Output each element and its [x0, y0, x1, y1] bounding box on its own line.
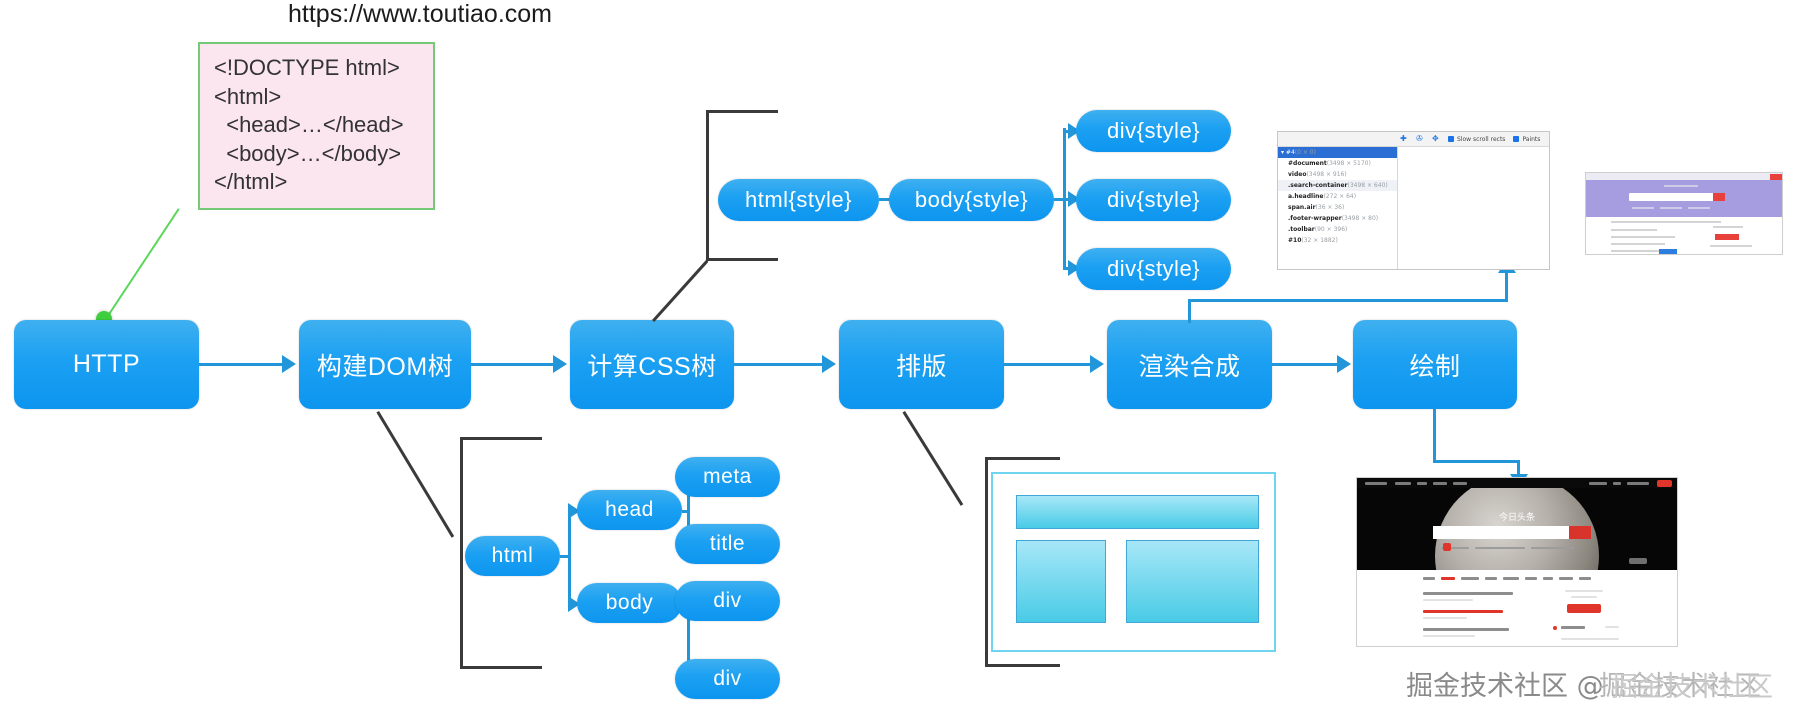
rendered-body	[1357, 570, 1677, 646]
html-source-callout: <!DOCTYPE html> <html> <head>…</head> <b…	[198, 42, 435, 210]
nav-item	[1613, 482, 1621, 485]
layer-row[interactable]: .search-container(3498 × 640)	[1278, 180, 1397, 191]
arrow-layout-to-render-line	[1004, 363, 1092, 366]
arrow-render-to-paint-head	[1337, 355, 1351, 373]
arrow-http-to-dom-head	[282, 355, 296, 373]
article-meta	[1423, 599, 1473, 601]
dom-node-html-label: html	[492, 544, 534, 568]
preview-tag-line	[1632, 207, 1654, 209]
elbow-render-across-seg	[1188, 299, 1508, 302]
dom-node-div-2[interactable]: div	[675, 659, 780, 699]
article-title	[1423, 628, 1509, 631]
dom-node-head-label: head	[605, 498, 654, 522]
rail-text	[1565, 590, 1603, 592]
layer-row[interactable]: .toolbar(90 × 396)	[1278, 224, 1397, 235]
preview-blue-button	[1659, 249, 1677, 255]
wireframe-connector-diagonal	[902, 411, 963, 506]
rail-text	[1571, 596, 1597, 598]
nav-item	[1365, 482, 1387, 485]
dom-node-meta-label: meta	[703, 465, 752, 489]
preview-side-line	[1710, 245, 1752, 247]
layer-dims: (3498 × 5170)	[1327, 160, 1371, 167]
rail-download-button	[1567, 604, 1601, 613]
devtools-layer-canvas	[1399, 147, 1549, 269]
arrow-render-to-paint-line	[1272, 363, 1338, 366]
category-item	[1461, 577, 1479, 580]
layer-row[interactable]: #document(3498 × 5170)	[1278, 158, 1397, 169]
hero-search-input	[1433, 526, 1569, 539]
layer-name: video	[1288, 171, 1306, 178]
category-item	[1579, 577, 1591, 580]
devtools-layers-screenshot: ✚ ✇ ✥ Slow scroll rects Paints ▾ #4(0 × …	[1277, 131, 1550, 270]
category-item	[1503, 577, 1519, 580]
css-node-div-3[interactable]: div{style}	[1076, 248, 1231, 290]
article-title-highlight	[1423, 610, 1503, 613]
dom-tree-bracket-vertical	[460, 437, 463, 669]
diagram-canvas: https://www.toutiao.com <!DOCTYPE html> …	[0, 0, 1793, 713]
stage-build-dom-label: 构建DOM树	[317, 347, 453, 383]
stage-http[interactable]: HTTP	[14, 320, 199, 409]
wireframe-bracket-bottom	[985, 664, 1060, 667]
stage-render-composite-label: 渲染合成	[1138, 347, 1240, 383]
dom-node-title-label: title	[710, 532, 745, 556]
dom-tree-bracket-bottom	[460, 666, 542, 669]
layout-wireframe	[991, 472, 1276, 652]
stage-layout[interactable]: 排版	[839, 320, 1004, 409]
hero-badge	[1443, 543, 1451, 551]
nav-item	[1433, 482, 1447, 485]
rendered-page-screenshot: 今日头条	[1356, 477, 1678, 647]
preview-text-line	[1611, 229, 1657, 231]
wireframe-header-block	[1016, 495, 1259, 529]
article-title	[1423, 646, 1501, 647]
rail-item	[1561, 638, 1619, 640]
nav-item	[1589, 482, 1607, 485]
checkbox-icon	[1513, 136, 1519, 142]
hero-site-title: 今日头条	[1357, 510, 1677, 523]
preview-hero	[1586, 180, 1782, 217]
layer-dims: (272 × 64)	[1323, 193, 1356, 200]
wireframe-bracket-top	[985, 457, 1060, 460]
paints-label: Paints	[1522, 136, 1540, 143]
dom-node-div-1-label: div	[713, 589, 741, 613]
css-node-div-3-label: div{style}	[1107, 256, 1200, 282]
layer-dims: (3498 × 916)	[1306, 171, 1346, 178]
preview-text-line	[1611, 243, 1665, 245]
css-node-div-2-label: div{style}	[1107, 187, 1200, 213]
stage-http-label: HTTP	[73, 350, 140, 379]
preview-text-line	[1611, 236, 1675, 238]
css-tree-bracket-bottom	[706, 258, 778, 261]
arrow-css-to-layout-head	[822, 355, 836, 373]
css-node-body[interactable]: body{style}	[889, 179, 1054, 221]
stage-paint-label: 绘制	[1409, 347, 1460, 383]
layer-dims: (90 × 396)	[1315, 226, 1348, 233]
layer-row[interactable]: a.headline(272 × 64)	[1278, 191, 1397, 202]
layer-name: .footer-wrapper	[1288, 215, 1342, 222]
arrow-dom-to-css-line	[471, 363, 555, 366]
css-node-div-1-label: div{style}	[1107, 118, 1200, 144]
nav-login-button	[1657, 480, 1672, 487]
css-tree-connector-diagonal	[652, 260, 708, 322]
add-icon[interactable]: ✚	[1400, 135, 1408, 143]
category-item	[1423, 577, 1435, 580]
layer-dims: (3498 × 80)	[1342, 215, 1378, 222]
preview-tag-line	[1688, 207, 1710, 209]
preview-search-button	[1713, 193, 1725, 201]
stage-paint[interactable]: 绘制	[1353, 320, 1517, 409]
elbow-render-up-seg	[1188, 299, 1191, 323]
css-node-html[interactable]: html{style}	[718, 179, 879, 221]
arrow-css-to-layout-line	[734, 363, 824, 366]
stage-compute-css[interactable]: 计算CSS树	[570, 320, 734, 409]
dom-node-body[interactable]: body	[577, 583, 682, 623]
wireframe-bracket-vertical	[985, 457, 988, 667]
category-item	[1543, 577, 1553, 580]
dom-node-title[interactable]: title	[675, 524, 780, 564]
layer-row[interactable]: ▾ #4(0 × 0)	[1278, 147, 1397, 158]
stage-build-dom[interactable]: 构建DOM树	[299, 320, 471, 409]
css-tree-bracket-vertical	[706, 110, 709, 260]
page-url-label: https://www.toutiao.com	[288, 0, 552, 29]
nav-item	[1417, 482, 1427, 485]
dom-node-body-label: body	[606, 591, 654, 615]
hero-search-button	[1569, 526, 1591, 539]
preview-tag-line	[1660, 207, 1682, 209]
watermark-overlap-2: 掘金技术社区	[1611, 665, 1773, 704]
css-node-html-label: html{style}	[745, 187, 852, 213]
stage-layout-label: 排版	[896, 347, 947, 383]
layer-row[interactable]: video(3498 × 916)	[1278, 169, 1397, 180]
arrow-http-to-dom-line	[199, 363, 284, 366]
preview-browser-chrome	[1586, 173, 1782, 180]
layer-name: span.air	[1288, 204, 1316, 211]
stage-compute-css-label: 计算CSS树	[587, 347, 716, 383]
dom-tree-bracket-top	[460, 437, 542, 440]
rail-item-count	[1605, 626, 1619, 628]
pan-icon[interactable]: ✇	[1416, 135, 1424, 143]
hero-corner-chip	[1629, 558, 1647, 564]
page-preview-thumbnail	[1585, 172, 1783, 255]
dom-head-children-stem	[682, 510, 690, 513]
nav-item	[1395, 482, 1411, 485]
slow-scroll-rects-checkbox[interactable]: Slow scroll rects	[1448, 136, 1505, 143]
layer-row[interactable]: #10(32 × 1882)	[1278, 235, 1397, 246]
layer-name: #document	[1288, 160, 1327, 167]
wireframe-right-block	[1126, 540, 1259, 623]
layer-name: .search-container	[1288, 182, 1347, 189]
slow-scroll-rects-label: Slow scroll rects	[1457, 136, 1505, 143]
layer-dims: (0 × 0)	[1295, 149, 1316, 156]
rendered-navbar	[1357, 478, 1677, 488]
paints-checkbox[interactable]: Paints	[1513, 136, 1540, 143]
hero-hint-line	[1475, 547, 1525, 549]
preview-nav-line	[1611, 221, 1721, 223]
layer-name: #10	[1288, 237, 1301, 244]
arrow-layout-to-render-head	[1090, 355, 1104, 373]
dom-node-html[interactable]: html	[465, 536, 560, 576]
preview-search-box	[1629, 193, 1725, 201]
dom-html-stem-line	[560, 555, 570, 558]
layer-dims: (36 × 36)	[1316, 204, 1345, 211]
watermark-primary: 掘金技术社区 @	[1406, 671, 1604, 702]
article-title	[1423, 592, 1513, 595]
css-tree-bracket-top	[706, 110, 778, 113]
layer-name: #4	[1286, 149, 1295, 156]
nav-item	[1627, 482, 1649, 485]
preview-logo-line	[1664, 185, 1698, 187]
dom-node-meta[interactable]: meta	[675, 457, 780, 497]
hero-hint-line	[1531, 547, 1575, 549]
rail-bullet	[1553, 626, 1557, 630]
nav-item	[1453, 482, 1467, 485]
elbow-paint-across-seg	[1433, 460, 1520, 463]
move-icon[interactable]: ✥	[1432, 135, 1440, 143]
layer-dims: (3498 × 640)	[1347, 182, 1387, 189]
arrow-dom-to-css-head	[553, 355, 567, 373]
wireframe-left-block	[1016, 540, 1106, 623]
dom-node-div-1[interactable]: div	[675, 581, 780, 621]
layer-row[interactable]: span.air(36 × 36)	[1278, 202, 1397, 213]
layer-name: .toolbar	[1288, 226, 1315, 233]
category-item	[1485, 577, 1497, 580]
dom-tree-connector-diagonal	[376, 411, 454, 538]
preview-cta-button	[1715, 234, 1739, 240]
rail-item	[1561, 626, 1585, 629]
category-item-active	[1441, 577, 1455, 580]
dom-node-div-2-label: div	[713, 667, 741, 691]
css-node-div-1[interactable]: div{style}	[1076, 110, 1231, 152]
preview-side-line	[1713, 226, 1743, 228]
article-meta	[1423, 635, 1475, 637]
category-item	[1559, 577, 1573, 580]
css-node-div-2[interactable]: div{style}	[1076, 179, 1231, 221]
rendered-hero: 今日头条	[1357, 488, 1677, 570]
stage-render-composite[interactable]: 渲染合成	[1107, 320, 1272, 409]
css-node-body-label: body{style}	[915, 187, 1028, 213]
checkbox-icon	[1448, 136, 1454, 142]
category-item	[1525, 577, 1537, 580]
preview-body	[1586, 217, 1782, 254]
layer-dims: (32 × 1882)	[1301, 237, 1337, 244]
callout-leader-line	[104, 208, 180, 321]
watermark: 掘金技术社区 @ 掘金技术社区 掘金技术社区	[1406, 664, 1604, 703]
devtools-toolbar: ✚ ✇ ✥ Slow scroll rects Paints	[1278, 132, 1549, 147]
article-meta	[1423, 617, 1467, 619]
dom-node-head[interactable]: head	[577, 490, 682, 530]
layer-row[interactable]: .footer-wrapper(3498 × 80)	[1278, 213, 1397, 224]
elbow-render-rise-seg	[1505, 272, 1508, 302]
devtools-layer-tree[interactable]: ▾ #4(0 × 0) #document(3498 × 5170) video…	[1278, 147, 1398, 269]
elbow-paint-down-seg	[1433, 409, 1436, 462]
layer-name: a.headline	[1288, 193, 1323, 200]
